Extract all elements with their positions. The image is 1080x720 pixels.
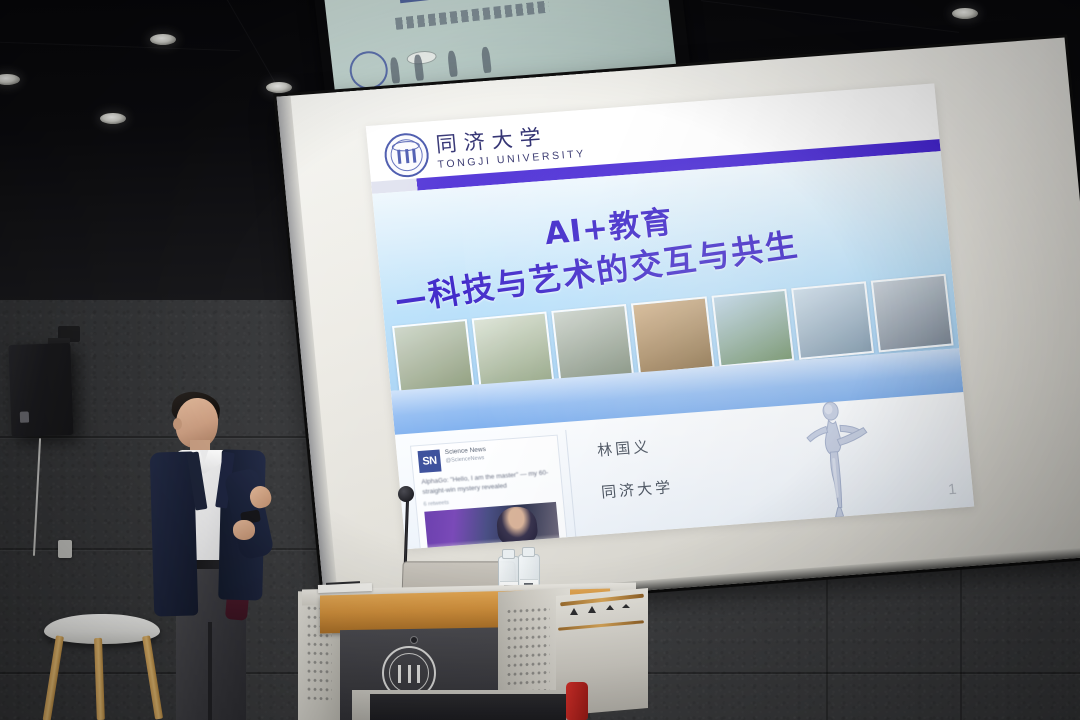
lectern-control-button[interactable]: [588, 606, 596, 613]
lecture-hall-photo: 同济大学 TONGJI UNIVERSITY AI+教育 —科技与艺术的交互与共…: [0, 0, 1080, 720]
wall-joint-vertical: [960, 548, 962, 720]
presenter-leg-split: [208, 622, 212, 720]
slide-number: 1: [947, 481, 957, 499]
strip-photo: [711, 289, 794, 368]
strip-photo: [791, 281, 874, 360]
bottle-cap: [502, 549, 515, 559]
lectern-lock: [410, 636, 418, 644]
bottle-cap: [522, 547, 535, 557]
downlight-icon: [952, 8, 978, 19]
speaker-badge-icon: [20, 411, 29, 422]
seal-ring: [391, 140, 420, 152]
wall-outlet: [58, 540, 72, 558]
downlight-icon: [266, 82, 292, 93]
tongji-seal-icon: [348, 49, 390, 91]
wall-speaker: [8, 343, 73, 437]
science-news-avatar: SN: [418, 449, 442, 473]
strip-photo: [631, 296, 714, 375]
figure-icon: [390, 57, 401, 84]
secondary-display-text: [395, 1, 549, 30]
lectern-control-button[interactable]: [606, 605, 614, 610]
strip-photo: [871, 274, 954, 353]
lectern-control-button[interactable]: [622, 604, 630, 608]
projection-screen: 同济大学 TONGJI UNIVERSITY AI+教育 —科技与艺术的交互与共…: [277, 38, 1080, 615]
figure-icon: [481, 46, 492, 73]
presenter-ear: [173, 418, 182, 430]
presentation-slide: 同济大学 TONGJI UNIVERSITY AI+教育 —科技与艺术的交互与共…: [366, 83, 974, 549]
microphone-icon: [398, 486, 414, 502]
strip-photo: [472, 311, 555, 390]
lectern-shelf: [370, 694, 566, 720]
presenter-hand: [233, 520, 255, 540]
figure-icon: [447, 50, 458, 77]
lectern-control-button[interactable]: [570, 608, 578, 615]
tongji-seal-icon: [383, 132, 431, 179]
downlight-icon: [150, 34, 176, 45]
presenter-name: 林国义: [596, 436, 652, 461]
android-dancer-figure: [785, 393, 906, 525]
downlight-icon: [100, 113, 126, 124]
fire-extinguisher: [566, 682, 588, 720]
tweet-card: SN Science News @ScienceNews AlphaGo: "H…: [410, 435, 568, 550]
strip-photo: [552, 304, 635, 383]
tweet-image: [424, 501, 560, 549]
